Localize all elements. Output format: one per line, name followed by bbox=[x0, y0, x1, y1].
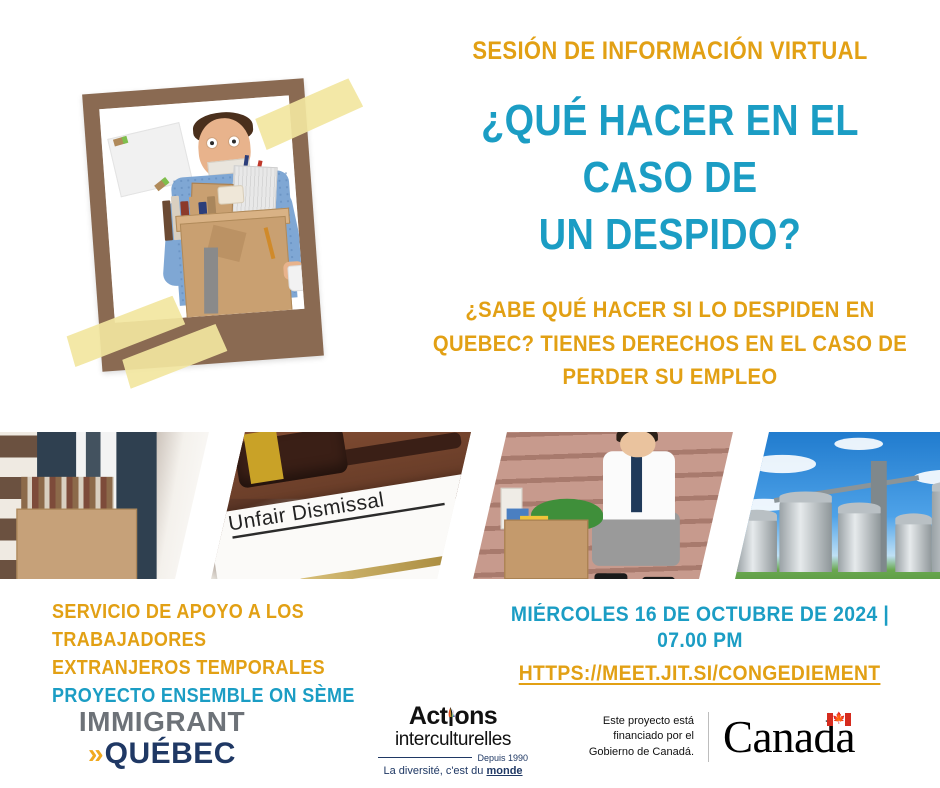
actions-since: Depuis 1990 bbox=[378, 753, 528, 763]
service-line-1: SERVICIO DE APOYO A LOS TRABAJADORES bbox=[52, 598, 412, 654]
strip-photo-4 bbox=[735, 432, 940, 579]
immigrant-wordmark: IMMIGRANT bbox=[62, 708, 262, 736]
photo-strip: Unfair Dismissal bbox=[0, 432, 940, 579]
subtitle-line-3: PERDER SU EMPLEO bbox=[422, 360, 919, 393]
strip-photo-2: Unfair Dismissal bbox=[211, 432, 471, 579]
feather-icon bbox=[446, 706, 455, 725]
funding-statement: Este proyecto está financiado por el Gob… bbox=[566, 714, 694, 761]
canada-wordmark: Canada 🍁 bbox=[723, 715, 855, 760]
divider bbox=[378, 757, 472, 758]
quebec-wordmark: QUÉBEC bbox=[105, 739, 236, 769]
event-date: MIÉRCOLES 16 DE OCTUBRE DE 2024 | 07.00 … bbox=[488, 602, 911, 655]
actions-word-a: Act bbox=[409, 702, 447, 730]
subtitle-block: ¿SABE QUÉ HACER SI LO DESPIDEN EN QUEBEC… bbox=[422, 293, 919, 393]
canadian-flag-icon: 🍁 bbox=[827, 713, 851, 726]
polaroid-photo bbox=[68, 78, 348, 388]
funding-line-1: Este proyecto está bbox=[566, 714, 694, 730]
event-block: MIÉRCOLES 16 DE OCTUBRE DE 2024 | 07.00 … bbox=[470, 602, 930, 686]
chevron-right-icon: » bbox=[88, 738, 99, 770]
interculturelles-wordmark: interculturelles bbox=[378, 730, 528, 750]
maple-leaf-icon: 🍁 bbox=[832, 714, 845, 725]
event-url-link[interactable]: HTTPS://MEET.JIT.SI/CONGEDIEMENT bbox=[519, 662, 881, 686]
subtitle-line-1: ¿SABE QUÉ HACER SI LO DESPIDEN EN bbox=[422, 293, 919, 326]
headline-block: SESIÓN DE INFORMACIÓN VIRTUAL ¿QUÉ HACER… bbox=[400, 38, 940, 393]
since-text: Depuis 1990 bbox=[477, 753, 528, 763]
logo-immigrant-quebec: IMMIGRANT » QUÉBEC bbox=[62, 708, 262, 770]
title-line-2: UN DESPIDO? bbox=[438, 206, 902, 263]
actions-word-b: ons bbox=[454, 702, 497, 730]
title-line-1: ¿QUÉ HACER EN EL CASO DE bbox=[438, 92, 902, 206]
funding-line-3: Gobierno de Canadá. bbox=[566, 745, 694, 761]
vertical-divider bbox=[708, 712, 709, 762]
poster-canvas: SESIÓN DE INFORMACIÓN VIRTUAL ¿QUÉ HACER… bbox=[0, 0, 940, 788]
actions-tagline: La diversité, c'est du monde bbox=[378, 765, 528, 777]
actions-wordmark: Actons bbox=[409, 704, 497, 729]
kicker-text: SESIÓN DE INFORMACIÓN VIRTUAL bbox=[432, 38, 907, 66]
strip-photo-1 bbox=[0, 432, 209, 579]
tagline-part-b: monde bbox=[486, 765, 522, 777]
logo-actions-interculturelles: Actons interculturelles Depuis 1990 La d… bbox=[378, 704, 528, 777]
page-title: ¿QUÉ HACER EN EL CASO DE UN DESPIDO? bbox=[438, 92, 902, 264]
logo-canada: Este proyecto está financiado por el Gob… bbox=[566, 712, 876, 762]
strip-photo-3 bbox=[473, 432, 733, 579]
subtitle-line-2: QUEBEC? TIENES DERECHOS EN EL CASO DE bbox=[422, 327, 919, 360]
service-block: SERVICIO DE APOYO A LOS TRABAJADORES EXT… bbox=[52, 598, 452, 710]
service-line-2: EXTRANJEROS TEMPORALES bbox=[52, 654, 412, 682]
funding-line-2: financiado por el bbox=[566, 729, 694, 745]
tagline-part-a: La diversité, c'est du bbox=[383, 765, 486, 777]
